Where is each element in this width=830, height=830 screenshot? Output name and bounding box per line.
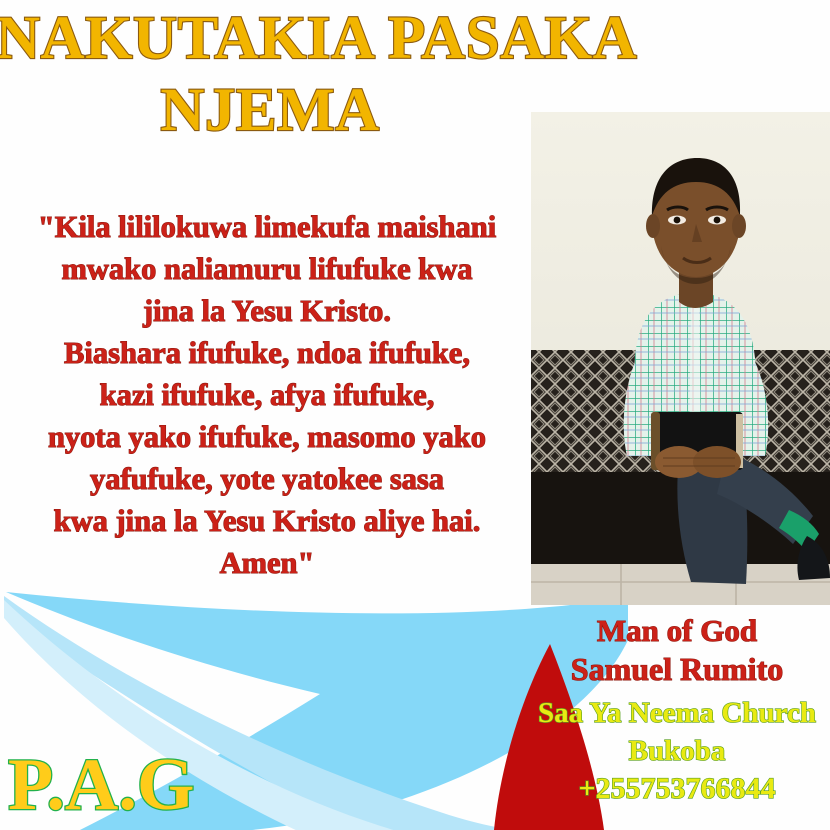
verse-line: Biashara ifufuke, ndoa ifufuke, bbox=[0, 332, 534, 374]
pag-logo: P.A.G bbox=[8, 748, 194, 822]
verse-line: kwa jina la Yesu Kristo aliye hai. bbox=[0, 500, 534, 542]
verse-text-block: "Kila lililokuwa limekufa maishani mwako… bbox=[0, 206, 534, 584]
pastor-name: Samuel Rumito bbox=[524, 650, 830, 688]
poster-headline: NAKUTAKIA PASAKA NJEMA bbox=[0, 8, 540, 142]
contact-phone-number: +255753766844 bbox=[524, 770, 830, 808]
verse-line: mwako naliamuru lifufuke kwa bbox=[0, 248, 534, 290]
verse-line: jina la Yesu Kristo. bbox=[0, 290, 534, 332]
headline-line-2: NJEMA bbox=[0, 80, 540, 142]
portrait-illustration bbox=[531, 112, 830, 605]
pastor-portrait-photo bbox=[531, 112, 830, 605]
man-of-god-label: Man of God bbox=[524, 612, 830, 650]
credit-block: Man of God Samuel Rumito Saa Ya Neema Ch… bbox=[524, 612, 830, 808]
verse-line: yafufuke, yote yatokee sasa bbox=[0, 458, 534, 500]
verse-line: kazi ifufuke, afya ifufuke, bbox=[0, 374, 534, 416]
verse-line: "Kila lililokuwa limekufa maishani bbox=[0, 206, 534, 248]
verse-line: Amen" bbox=[0, 542, 534, 584]
verse-line: nyota yako ifufuke, masomo yako bbox=[0, 416, 534, 458]
church-city: Bukoba bbox=[524, 732, 830, 770]
church-name: Saa Ya Neema Church bbox=[524, 694, 830, 732]
easter-greeting-poster: NAKUTAKIA PASAKA NJEMA "Kila lililokuwa … bbox=[0, 0, 830, 830]
headline-line-1: NAKUTAKIA PASAKA bbox=[0, 8, 540, 70]
